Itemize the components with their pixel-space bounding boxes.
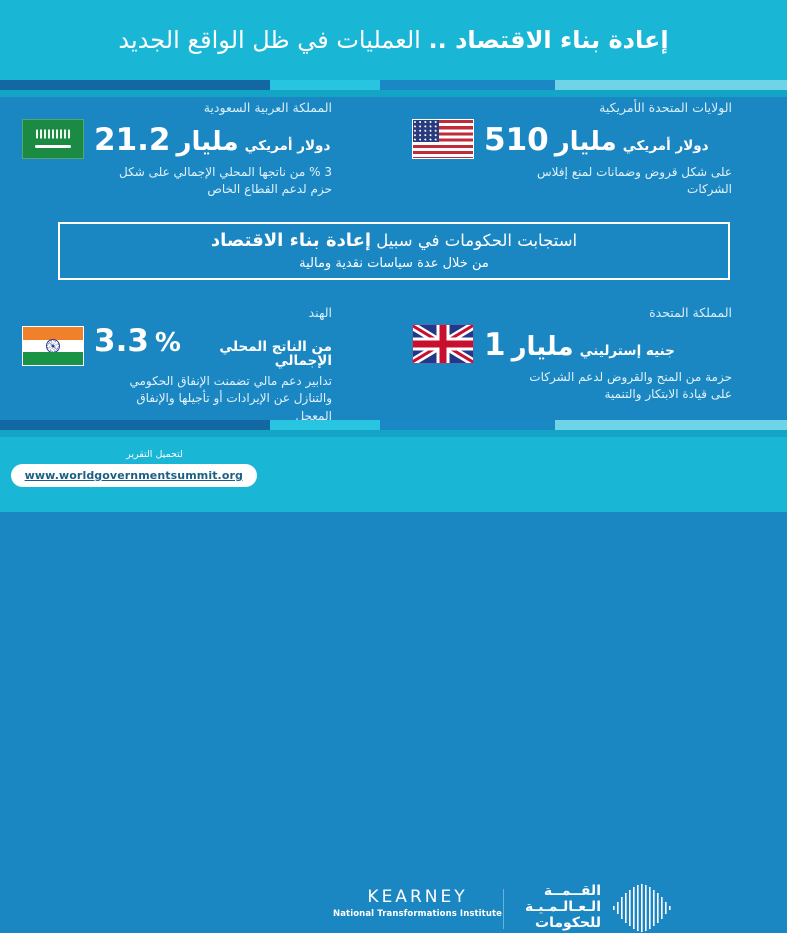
stat-block-uk: المملكة المتحدة 1 مليار جنيه إسترليني حز… bbox=[412, 305, 732, 404]
saudi-sword-mark bbox=[35, 145, 71, 148]
uk-cross-red-horizontal bbox=[413, 341, 473, 348]
stat-unit-sub-india: من الناتج المحلي الإجمالي bbox=[187, 341, 332, 368]
amount-text-uk: 1 مليار جنيه إسترليني bbox=[484, 328, 675, 361]
amount-text-usa: 510 مليار دولار أمريكي bbox=[484, 123, 709, 156]
world-government-summit-logo: القــمــة الـعـالـمـيـة للحكومات bbox=[525, 883, 673, 933]
report-url-link[interactable]: www.worldgovernmentsummit.org bbox=[11, 464, 257, 487]
summary-banner-line1: استجابت الحكومات في سبيل إعادة بناء الاق… bbox=[211, 229, 577, 252]
wgs-line-3: للحكومات bbox=[525, 916, 601, 932]
stripe-segment-light bbox=[555, 80, 787, 90]
kearney-tagline: National Transformations Institute bbox=[333, 909, 502, 919]
stat-description-uk: حزمة من المنح والقروض لدعم الشركات على ق… bbox=[517, 369, 732, 404]
kearney-logo: KEARNEY National Transformations Institu… bbox=[333, 889, 502, 919]
wgs-emblem-icon bbox=[611, 883, 673, 933]
united-states-flag bbox=[412, 119, 474, 159]
stat-value-uk: 1 bbox=[484, 330, 506, 361]
stat-block-usa: الولايات المتحدة الأمريكية 510 مليار دول… bbox=[412, 100, 732, 199]
summary-banner-line1-bold: إعادة بناء الاقتصاد bbox=[211, 230, 371, 251]
footer-overline bbox=[0, 430, 787, 437]
stat-block-saudi: المملكة العربية السعودية 21.2 مليار دولا… bbox=[22, 100, 332, 199]
stripe-segment-dark bbox=[0, 80, 270, 90]
stripe-segment-light bbox=[555, 420, 787, 430]
stripe-segment-cyan bbox=[270, 420, 380, 430]
stat-block-india: الهند 3.3 % من الناتج المحلي الإجمالي تد… bbox=[22, 305, 332, 425]
page-title-rest: العمليات في ظل الواقع الجديد bbox=[118, 26, 428, 54]
wgs-line-1: القــمــة bbox=[525, 884, 601, 900]
us-canton bbox=[413, 120, 439, 142]
stat-unit-main-usa: مليار bbox=[555, 129, 617, 155]
stat-value-usa: 510 bbox=[484, 125, 549, 156]
india-chakra-icon bbox=[46, 339, 60, 353]
wgs-wordmark: القــمــة الـعـالـمـيـة للحكومات bbox=[525, 884, 601, 931]
india-saffron-band bbox=[23, 327, 83, 340]
header-underline bbox=[0, 90, 787, 97]
country-label-uk: المملكة المتحدة bbox=[412, 305, 732, 320]
country-label-usa: الولايات المتحدة الأمريكية bbox=[412, 100, 732, 115]
stat-description-india: تدابير دعم مالي تضمنت الإنفاق الحكومي وا… bbox=[117, 373, 332, 425]
page-title: إعادة بناء الاقتصاد .. العمليات في ظل ال… bbox=[88, 25, 698, 55]
decorative-stripe-top bbox=[0, 80, 787, 90]
amount-text-india: 3.3 % من الناتج المحلي الإجمالي bbox=[94, 324, 332, 368]
wgs-line-2: الـعـالـمـيـة bbox=[525, 900, 601, 916]
kearney-wordmark: KEARNEY bbox=[333, 889, 502, 906]
download-report-group: لتحميل التقرير www.worldgovernmentsummit… bbox=[52, 449, 257, 487]
stripe-segment-dark bbox=[0, 420, 270, 430]
stat-unit-main-india: % bbox=[155, 330, 181, 356]
stat-value-saudi: 21.2 bbox=[94, 125, 171, 156]
amount-row-saudi: 21.2 مليار دولار أمريكي bbox=[22, 119, 332, 159]
amount-row-india: 3.3 % من الناتج المحلي الإجمالي bbox=[22, 324, 332, 368]
united-kingdom-flag bbox=[412, 324, 474, 364]
stat-description-usa: على شكل قروض وضمانات لمنع إفلاس الشركات bbox=[517, 164, 732, 199]
decorative-stripe-bottom bbox=[0, 420, 787, 430]
stat-unit-sub-saudi: دولار أمريكي bbox=[245, 140, 331, 154]
country-label-india: الهند bbox=[22, 305, 332, 320]
download-report-label: لتحميل التقرير bbox=[52, 449, 257, 460]
stripe-segment-mid bbox=[380, 80, 555, 90]
stat-unit-sub-uk: جنيه إسترليني bbox=[580, 345, 675, 359]
stat-unit-main-uk: مليار bbox=[512, 334, 574, 360]
footer-divider bbox=[503, 889, 504, 929]
country-label-saudi: المملكة العربية السعودية bbox=[22, 100, 332, 115]
amount-row-uk: 1 مليار جنيه إسترليني bbox=[412, 324, 732, 364]
stat-unit-main-saudi: مليار bbox=[177, 129, 239, 155]
stat-value-india: 3.3 bbox=[94, 326, 149, 357]
header-banner: إعادة بناء الاقتصاد .. العمليات في ظل ال… bbox=[0, 0, 787, 80]
page-title-bold: إعادة بناء الاقتصاد .. bbox=[428, 26, 668, 54]
saudi-arabia-flag bbox=[22, 119, 84, 159]
stat-unit-sub-usa: دولار أمريكي bbox=[623, 140, 709, 154]
saudi-shahada-mark bbox=[36, 129, 70, 138]
us-stars bbox=[413, 120, 439, 142]
india-green-band bbox=[23, 352, 83, 365]
infographic-page: إعادة بناء الاقتصاد .. العمليات في ظل ال… bbox=[0, 0, 787, 512]
india-flag bbox=[22, 326, 84, 366]
summary-banner-line1-plain: استجابت الحكومات في سبيل bbox=[371, 231, 577, 250]
amount-text-saudi: 21.2 مليار دولار أمريكي bbox=[94, 123, 330, 156]
stripe-segment-mid bbox=[380, 420, 555, 430]
summary-banner: استجابت الحكومات في سبيل إعادة بناء الاق… bbox=[58, 222, 730, 280]
amount-row-usa: 510 مليار دولار أمريكي bbox=[412, 119, 732, 159]
stat-description-saudi: 3 % من ناتجها المحلي الإجمالي على شكل حز… bbox=[117, 164, 332, 199]
stripe-segment-cyan bbox=[270, 80, 380, 90]
summary-banner-line2: من خلال عدة سياسات نقدية ومالية bbox=[299, 256, 489, 273]
footer-bar: لتحميل التقرير www.worldgovernmentsummit… bbox=[0, 437, 787, 512]
